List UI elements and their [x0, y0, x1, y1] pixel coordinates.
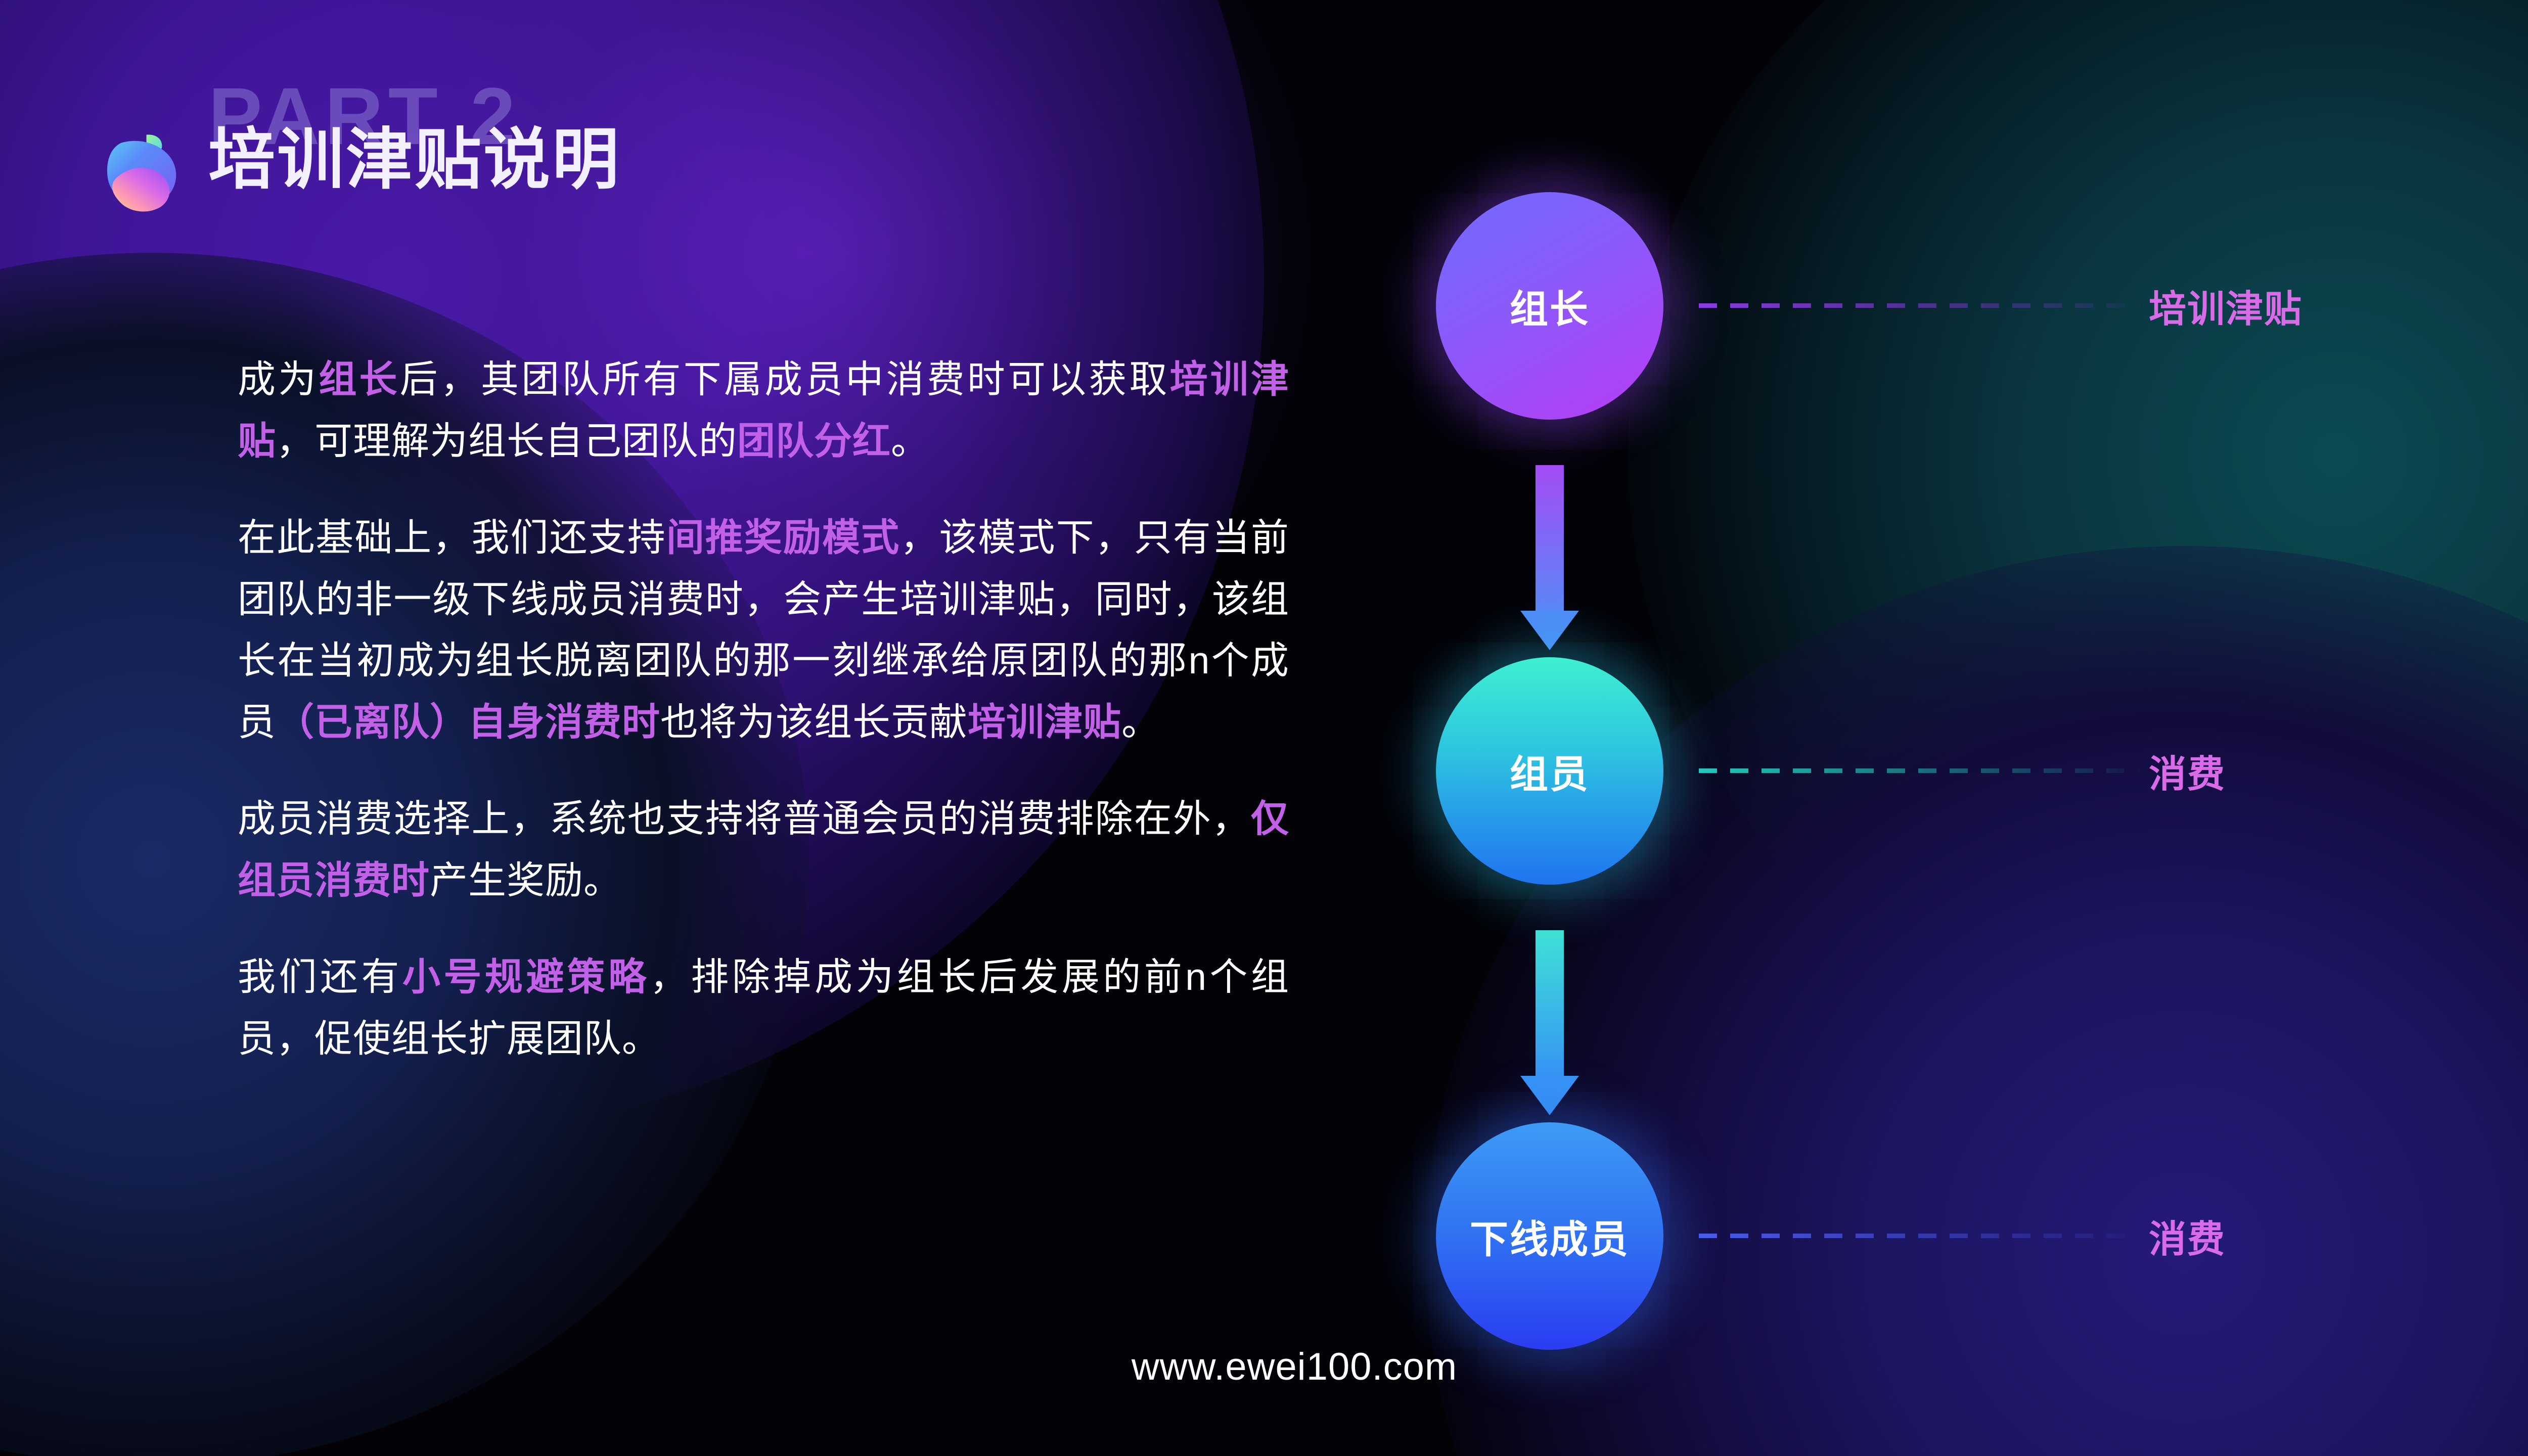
dashed-line: [1699, 303, 2144, 308]
highlighted-text: 小号规避策略: [402, 955, 650, 998]
side-label-consumption-member: 消费: [2149, 744, 2226, 798]
node-team-leader[interactable]: 组长: [1436, 192, 1663, 420]
dashed-connector-downline: [1699, 1234, 2144, 1238]
highlighted-text: 团队分红: [737, 420, 891, 462]
body-paragraph: 成为组长后，其团队所有下属成员中消费时可以获取培训津贴，可理解为组长自己团队的团…: [238, 349, 1289, 472]
node-label: 组长: [1510, 278, 1590, 334]
body-text: 在此基础上，我们还支持: [238, 516, 666, 559]
hierarchy-diagram: 组长 组员 下线成员 培训津贴 消费 消费: [1365, 167, 2528, 1330]
body-text: 。: [891, 420, 929, 462]
node-downline-member[interactable]: 下线成员: [1436, 1122, 1663, 1350]
side-label-consumption-downline: 消费: [2149, 1209, 2226, 1263]
node-label: 下线成员: [1470, 1208, 1630, 1264]
dashed-line: [1699, 768, 2144, 773]
highlighted-text: 培训津贴: [968, 701, 1121, 743]
leaf-gradient-logo-icon: [99, 128, 190, 219]
node-circle: 组长: [1436, 192, 1663, 420]
body-text: 也将为该组长贡献: [660, 701, 968, 743]
footer: www.ewei100.com: [0, 1345, 2528, 1389]
dashed-line: [1699, 1234, 2144, 1238]
node-team-member[interactable]: 组员: [1436, 657, 1663, 885]
dashed-connector-leader: [1699, 303, 2144, 308]
body-paragraph: 我们还有小号规避策略，排除掉成为组长后发展的前n个组员，促使组长扩展团队。: [238, 946, 1289, 1069]
arrow-head: [1520, 611, 1579, 650]
arrow-shaft: [1536, 465, 1564, 612]
body-text: 成为: [238, 358, 319, 400]
down-arrow-member-to-downline: [1536, 930, 1564, 1077]
body-text: 后，其团队所有下属成员中消费时可以获取: [400, 358, 1170, 400]
highlighted-text: （已离队）自身消费时: [276, 701, 660, 743]
down-arrow-leader-to-member: [1536, 465, 1564, 612]
page-title: 培训津贴说明: [208, 120, 621, 199]
node-label: 组员: [1510, 743, 1590, 799]
body-paragraph: 在此基础上，我们还支持间推奖励模式，该模式下，只有当前团队的非一级下线成员消费时…: [238, 507, 1289, 753]
body-paragraph: 成员消费选择上，系统也支持将普通会员的消费排除在外，仅组员消费时产生奖励。: [238, 788, 1289, 911]
footer-url: www.ewei100.com: [1132, 1345, 1457, 1389]
body-text: 我们还有: [238, 955, 402, 998]
highlighted-text: 间推奖励模式: [666, 516, 900, 559]
side-label-training-allowance: 培训津贴: [2149, 279, 2303, 333]
node-circle: 组员: [1436, 657, 1663, 885]
body-text: 。: [1121, 701, 1160, 743]
node-circle: 下线成员: [1436, 1122, 1663, 1350]
dashed-connector-member: [1699, 768, 2144, 773]
body-copy: 成为组长后，其团队所有下属成员中消费时可以获取培训津贴，可理解为组长自己团队的团…: [238, 349, 1289, 1069]
body-text: ，可理解为组长自己团队的: [276, 420, 737, 462]
highlighted-text: 组长: [319, 358, 399, 400]
body-text: 成员消费选择上，系统也支持将普通会员的消费排除在外，: [238, 797, 1251, 840]
arrow-head: [1520, 1076, 1579, 1115]
arrow-shaft: [1536, 930, 1564, 1077]
body-text: 产生奖励。: [430, 859, 622, 901]
